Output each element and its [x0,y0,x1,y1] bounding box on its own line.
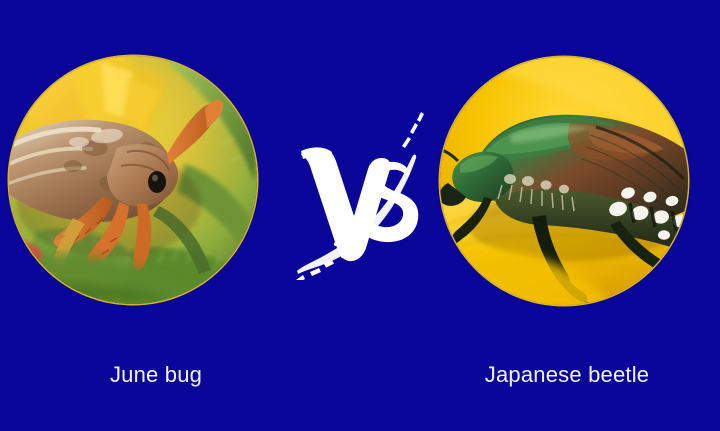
vs-divider [296,112,424,280]
japanese-beetle-photo [440,57,688,305]
right-photo-circle[interactable] [440,57,688,305]
vs-brush-icon [296,112,424,280]
june-bug-photo [9,56,257,304]
versus-comparison-canvas: June bug Japanese beetle [0,0,720,431]
left-photo-circle[interactable] [9,56,257,304]
right-caption: Japanese beetle [417,360,717,390]
left-caption: June bug [6,360,306,390]
